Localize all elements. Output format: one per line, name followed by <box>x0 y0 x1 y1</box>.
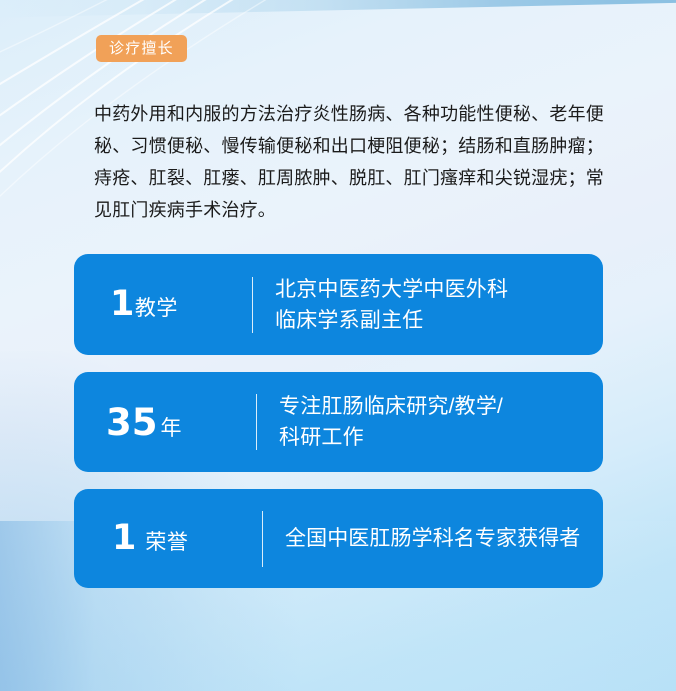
intro-paragraph: 中药外用和内服的方法治疗炎性肠病、各种功能性便秘、老年便秘、习惯便秘、慢传输便秘… <box>94 98 604 226</box>
credential-description: 专注肛肠临床研究/教学/ 科研工作 <box>257 391 603 453</box>
credential-description-line: 临床学系副主任 <box>275 305 597 336</box>
credential-description-line: 全国中医肛肠学科名专家获得者 <box>285 523 597 554</box>
credential-card[interactable]: 1 荣誉 全国中医肛肠学科名专家获得者 <box>74 489 603 588</box>
credential-description-line: 专注肛肠临床研究/教学/ <box>279 391 597 422</box>
credential-number: 35 <box>106 404 158 441</box>
credential-card[interactable]: 35 年 专注肛肠临床研究/教学/ 科研工作 <box>74 372 603 472</box>
credential-number: 1 <box>110 287 134 322</box>
credential-description-line: 科研工作 <box>279 422 597 453</box>
credential-metric: 1 教学 <box>74 287 252 322</box>
credential-unit: 教学 <box>135 298 178 319</box>
section-badge: 诊疗擅长 <box>96 35 187 62</box>
credential-number: 1 <box>112 521 136 556</box>
section-badge-label: 诊疗擅长 <box>109 41 174 56</box>
top-diagonal-band <box>0 0 676 18</box>
credential-metric: 35 年 <box>74 404 256 441</box>
credential-unit: 年 <box>161 418 183 439</box>
credential-card[interactable]: 1 教学 北京中医药大学中医外科 临床学系副主任 <box>74 254 603 355</box>
credential-card-list: 1 教学 北京中医药大学中医外科 临床学系副主任 35 年 专注肛肠临床研究/教… <box>74 254 603 588</box>
credential-description: 全国中医肛肠学科名专家获得者 <box>263 523 603 554</box>
page-root: 诊疗擅长 中药外用和内服的方法治疗炎性肠病、各种功能性便秘、老年便秘、习惯便秘、… <box>0 0 676 691</box>
credential-description-line: 北京中医药大学中医外科 <box>275 274 597 305</box>
credential-description: 北京中医药大学中医外科 临床学系副主任 <box>253 274 603 336</box>
credential-metric: 1 荣誉 <box>74 521 262 556</box>
credential-unit: 荣誉 <box>145 532 188 553</box>
